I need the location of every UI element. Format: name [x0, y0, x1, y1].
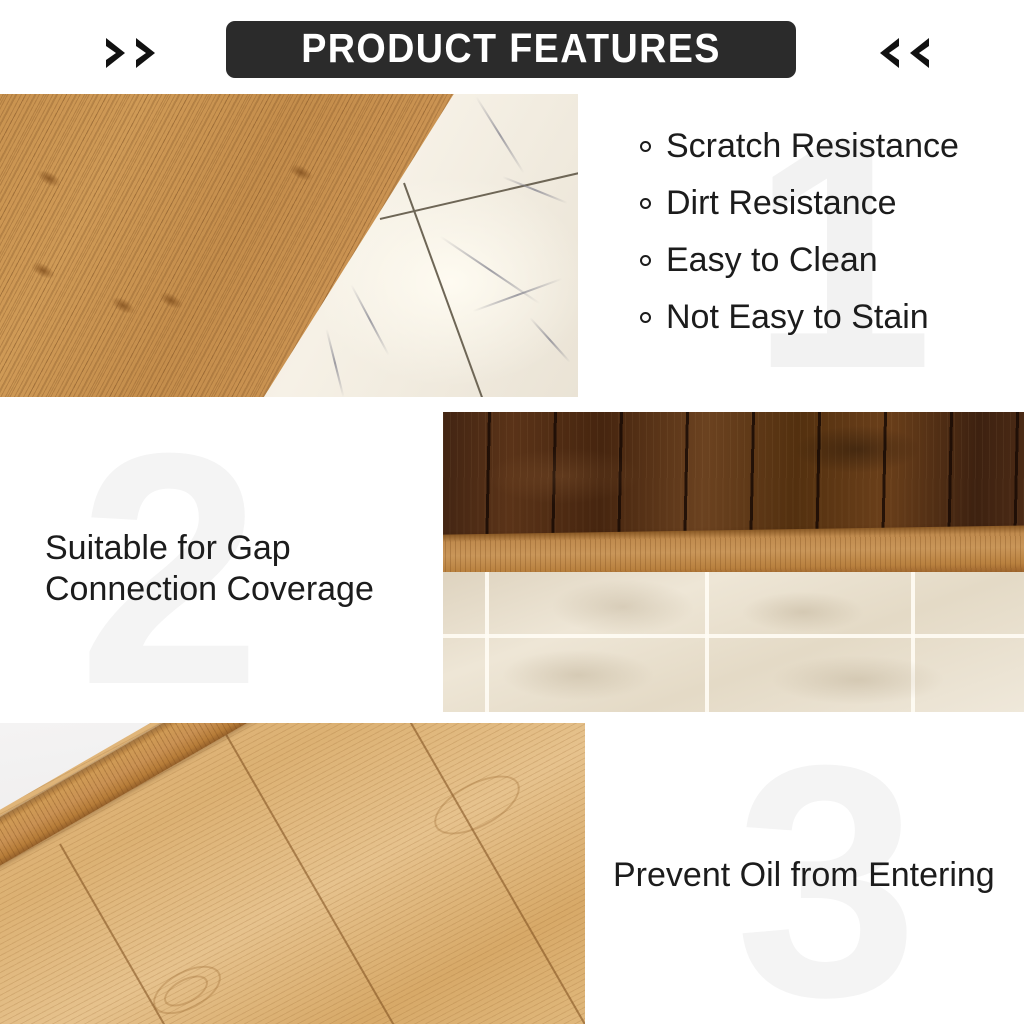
feature-block-1: 1 Scratch Resistance Dirt Resistance Eas… — [600, 118, 1024, 398]
tile-grout-line — [705, 572, 709, 712]
list-item-label: Easy to Clean — [640, 241, 878, 280]
tile-mottle — [553, 580, 693, 634]
tile-mottle — [503, 650, 653, 700]
bullet-circle-icon — [640, 312, 651, 323]
chevron-right-icon — [103, 36, 129, 70]
page-title: PRODUCT FEATURES — [301, 28, 721, 71]
wood-knot — [108, 294, 137, 318]
list-item: Easy to Clean — [600, 232, 1024, 289]
list-item: Not Easy to Stain — [600, 289, 1024, 346]
plank-seam — [219, 724, 501, 1024]
wood-knot — [34, 167, 63, 191]
bullet-circle-icon — [640, 198, 651, 209]
wood-knot — [28, 259, 57, 283]
list-item: Dirt Resistance — [600, 175, 1024, 232]
chevron-right-icon — [133, 36, 159, 70]
list-item-label: Dirt Resistance — [640, 184, 897, 223]
feature-block-3: 3 Prevent Oil from Entering — [585, 760, 1024, 1010]
bullet-circle-icon — [640, 141, 651, 152]
product-features-infographic: PRODUCT FEATURES 1 — [0, 0, 1024, 1024]
feature-caption-3: Prevent Oil from Entering — [613, 856, 995, 895]
chevron-left-icon — [906, 36, 932, 70]
feature-bullet-list: Scratch Resistance Dirt Resistance Easy … — [600, 118, 1024, 346]
chevron-left-icon — [876, 36, 902, 70]
tile-grout-line — [443, 634, 1024, 638]
list-item-label: Scratch Resistance — [640, 127, 959, 166]
list-item: Scratch Resistance — [600, 118, 1024, 175]
wood-knot — [156, 289, 185, 313]
page-title-plate: PRODUCT FEATURES — [226, 21, 796, 78]
tile-mottle — [743, 592, 863, 632]
wood-knot — [286, 161, 315, 185]
bullet-circle-icon — [640, 255, 651, 266]
feature-photo-3 — [0, 723, 585, 1024]
plank-seam — [399, 723, 585, 1024]
travertine-tile-floor — [443, 572, 1024, 712]
list-item-label: Not Easy to Stain — [640, 298, 929, 337]
feature-caption-line: Connection Coverage — [45, 569, 374, 610]
feature-caption-line: Prevent Oil from Entering — [613, 856, 995, 895]
feature-photo-2 — [443, 412, 1024, 712]
double-chevron-left-icon — [876, 34, 932, 72]
feature-block-2: 2 Suitable for Gap Connection Coverage — [0, 440, 440, 690]
double-chevron-right-icon — [103, 34, 159, 72]
tile-grout-line — [485, 572, 489, 712]
feature-caption-2: Suitable for Gap Connection Coverage — [45, 528, 374, 610]
feature-caption-line: Suitable for Gap — [45, 528, 374, 569]
feature-photo-1 — [0, 94, 578, 397]
